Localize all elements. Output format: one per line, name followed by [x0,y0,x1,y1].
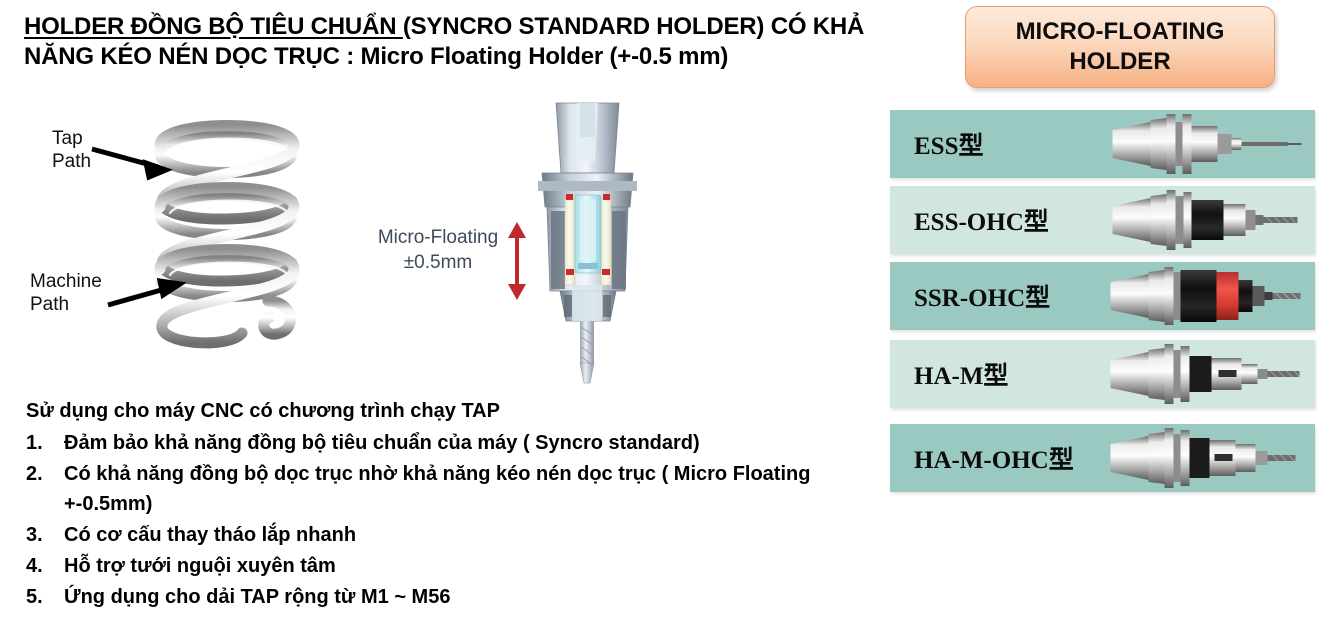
product-image-ha-m [1094,340,1315,408]
tool-holder-icon [1094,424,1315,492]
usage-intro-text: Sử dụng cho máy CNC có chương trình chạy… [26,398,856,424]
product-image-ssr-ohc [1094,262,1315,330]
product-row-ssr-ohc[interactable]: SSR-OHC型 [890,262,1315,330]
micro-floating-annotation-line-1: Micro-Floating [368,225,508,250]
product-label-ssr-ohc: SSR-OHC型 [914,278,1094,314]
usage-item-number: 1. [26,428,64,458]
micro-floating-annotation: Micro-Floating ±0.5mm [368,225,508,275]
machine-path-arrow [108,281,180,305]
badge-line-2: HOLDER [1016,47,1225,77]
product-label-ess-ohc: ESS-OHC型 [914,202,1094,238]
micro-floating-holder-badge: MICRO-FLOATING HOLDER [965,6,1275,88]
usage-list-item: 4. Hỗ trợ tưới nguội xuyên tâm [26,551,856,581]
product-image-ess-ohc [1094,186,1315,254]
usage-list-item: 5. Ứng dụng cho dải TAP rộng từ M1 ~ M56 [26,582,856,612]
usage-list-item: 1. Đảm bảo khả năng đồng bộ tiêu chuẩn c… [26,428,856,458]
usage-description: Sử dụng cho máy CNC có chương trình chạy… [26,398,856,613]
usage-item-text: Có khả năng đồng bộ dọc trục nhờ khả năn… [64,459,856,519]
product-image-ha-m-ohc [1094,424,1315,492]
tool-holder-icon [1094,262,1315,330]
product-label-ha-m: HA-M型 [914,356,1094,392]
usage-item-number: 2. [26,459,64,519]
badge-line-1: MICRO-FLOATING [1016,17,1225,47]
usage-list-item: 2. Có khả năng đồng bộ dọc trục nhờ khả … [26,459,856,519]
usage-item-number: 5. [26,582,64,612]
holder-cutaway-illustration [520,95,655,385]
micro-floating-annotation-line-2: ±0.5mm [368,250,508,275]
tool-holder-icon [1094,186,1315,254]
usage-item-text: Hỗ trợ tưới nguội xuyên tâm [64,551,856,581]
usage-item-text: Có cơ cấu thay tháo lắp nhanh [64,520,856,550]
title-line-1: HOLDER ĐỒNG BỘ TIÊU CHUẨN (SYNCRO STANDA… [24,12,874,42]
product-label-ha-m-ohc: HA-M-OHC型 [914,440,1094,476]
machine-path-label: Machine Path [30,270,102,316]
title-line-1-rest: (SYNCRO STANDARD HOLDER) CÓ KHẢ [403,13,864,40]
usage-item-text: Ứng dụng cho dải TAP rộng từ M1 ~ M56 [64,582,856,612]
title-line-2: NĂNG KÉO NÉN DỌC TRỤC : Micro Floating H… [24,42,874,72]
product-row-ess-ohc[interactable]: ESS-OHC型 [890,186,1315,254]
usage-item-number: 3. [26,520,64,550]
product-image-ess [1094,110,1315,178]
tap-spring-diagram: Tap Path Machine Path [30,105,340,360]
product-row-ess[interactable]: ESS型 [890,110,1315,178]
page-title: HOLDER ĐỒNG BỘ TIÊU CHUẨN (SYNCRO STANDA… [24,12,874,72]
usage-item-text: Đảm bảo khả năng đồng bộ tiêu chuẩn của … [64,428,856,458]
tool-holder-icon [1094,110,1315,178]
product-label-ess: ESS型 [914,126,1094,162]
product-row-ha-m[interactable]: HA-M型 [890,340,1315,408]
usage-item-number: 4. [26,551,64,581]
tool-holder-icon [1094,340,1315,408]
product-row-ha-m-ohc[interactable]: HA-M-OHC型 [890,424,1315,492]
usage-list-item: 3. Có cơ cấu thay tháo lắp nhanh [26,520,856,550]
title-underlined-part: HOLDER ĐỒNG BỘ TIÊU CHUẨN [24,13,403,40]
tap-path-label: Tap Path [52,127,91,173]
